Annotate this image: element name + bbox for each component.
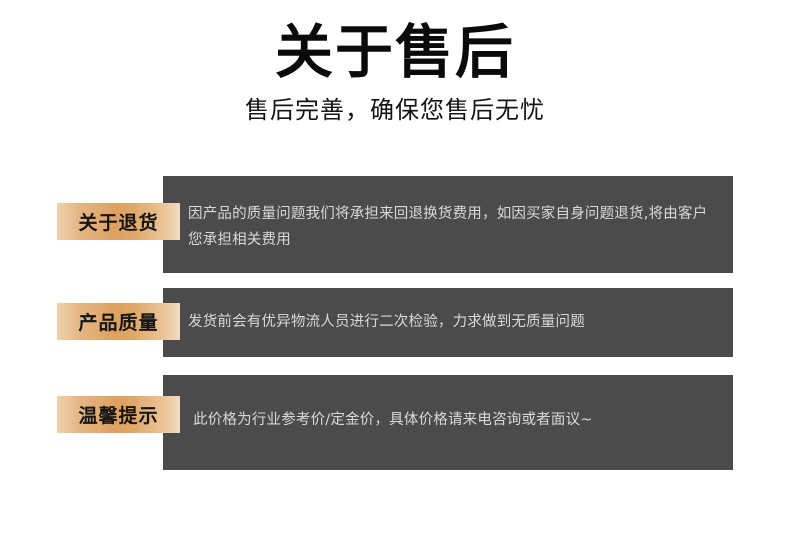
section-panel: 此价格为行业参考价/定金价，具体价格请来电咨询或者面议~ bbox=[163, 375, 733, 470]
section-panel: 因产品的质量问题我们将承担来回退换货费用，如因买家自身问题退货,将由客户您承担相… bbox=[163, 176, 733, 273]
sections-list: 因产品的质量问题我们将承担来回退换货费用，如因买家自身问题退货,将由客户您承担相… bbox=[0, 0, 790, 543]
section-description: 此价格为行业参考价/定金价，具体价格请来电咨询或者面议~ bbox=[193, 407, 715, 433]
section-description: 发货前会有优异物流人员进行二次检验，力求做到无质量问题 bbox=[188, 309, 715, 335]
section-label-tab-quality: 产品质量 bbox=[57, 303, 180, 340]
after-sales-info-page: 关于售后 售后完善，确保您售后无忧 因产品的质量问题我们将承担来回退换货费用，如… bbox=[0, 0, 790, 543]
section-panel: 发货前会有优异物流人员进行二次检验，力求做到无质量问题 bbox=[163, 288, 733, 357]
section-label-tab-returns: 关于退货 bbox=[57, 203, 180, 240]
section-description: 因产品的质量问题我们将承担来回退换货费用，如因买家自身问题退货,将由客户您承担相… bbox=[188, 201, 715, 253]
section-label-tab-notice: 温馨提示 bbox=[57, 396, 180, 433]
